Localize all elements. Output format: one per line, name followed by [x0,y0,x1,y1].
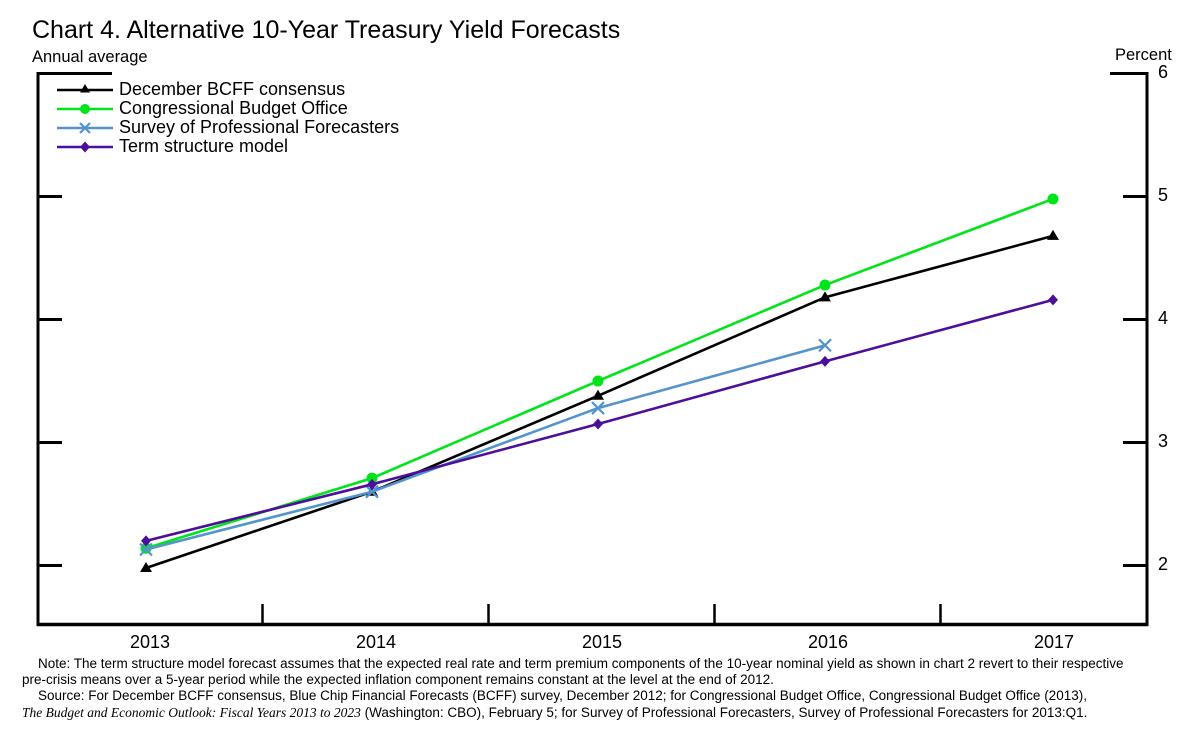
y-tick-label: 5 [1158,185,1188,206]
source-publication-title: The Budget and Economic Outlook: Fiscal … [22,705,361,720]
chart-notes: Note: The term structure model forecast … [0,656,1200,721]
series-triangle [140,230,1059,572]
legend-swatch-circle [57,99,113,118]
legend-label-spf: Survey of Professional Forecasters [119,117,399,138]
legend-swatch-x [57,118,113,137]
note-line-1: Note: The term structure model forecast … [0,656,1200,672]
legend-label-cbo: Congressional Budget Office [119,98,348,119]
series-layer [140,193,1059,572]
series-circle [141,193,1059,553]
source-line-1: Source: For December BCFF consensus, Blu… [0,688,1200,704]
y-tick-label: 4 [1158,308,1188,329]
x-tick-label-2015: 2015 [562,632,642,653]
legend-swatch-diamond [57,137,113,156]
legend-swatch-triangle [57,80,113,99]
source-line-2: The Budget and Economic Outlook: Fiscal … [0,705,1200,721]
x-axis-ticks [263,604,941,624]
legend-label-term-structure: Term structure model [119,136,288,157]
x-tick-label-2013: 2013 [110,632,190,653]
series-x [140,339,831,555]
y-tick-label: 6 [1158,62,1188,83]
note-line-2: pre-crisis means over a 5-year period wh… [0,672,1200,688]
x-tick-label-2017: 2017 [1014,632,1094,653]
y-tick-label: 2 [1158,554,1188,575]
chart-page: Chart 4. Alternative 10-Year Treasury Yi… [0,0,1200,741]
series-diamond [141,294,1058,546]
y-tick-label: 3 [1158,431,1188,452]
legend-label-bcff: December BCFF consensus [119,79,345,100]
x-tick-label-2014: 2014 [336,632,416,653]
source-publication-rest: (Washington: CBO), February 5; for Surve… [361,705,1088,720]
x-tick-label-2016: 2016 [788,632,868,653]
